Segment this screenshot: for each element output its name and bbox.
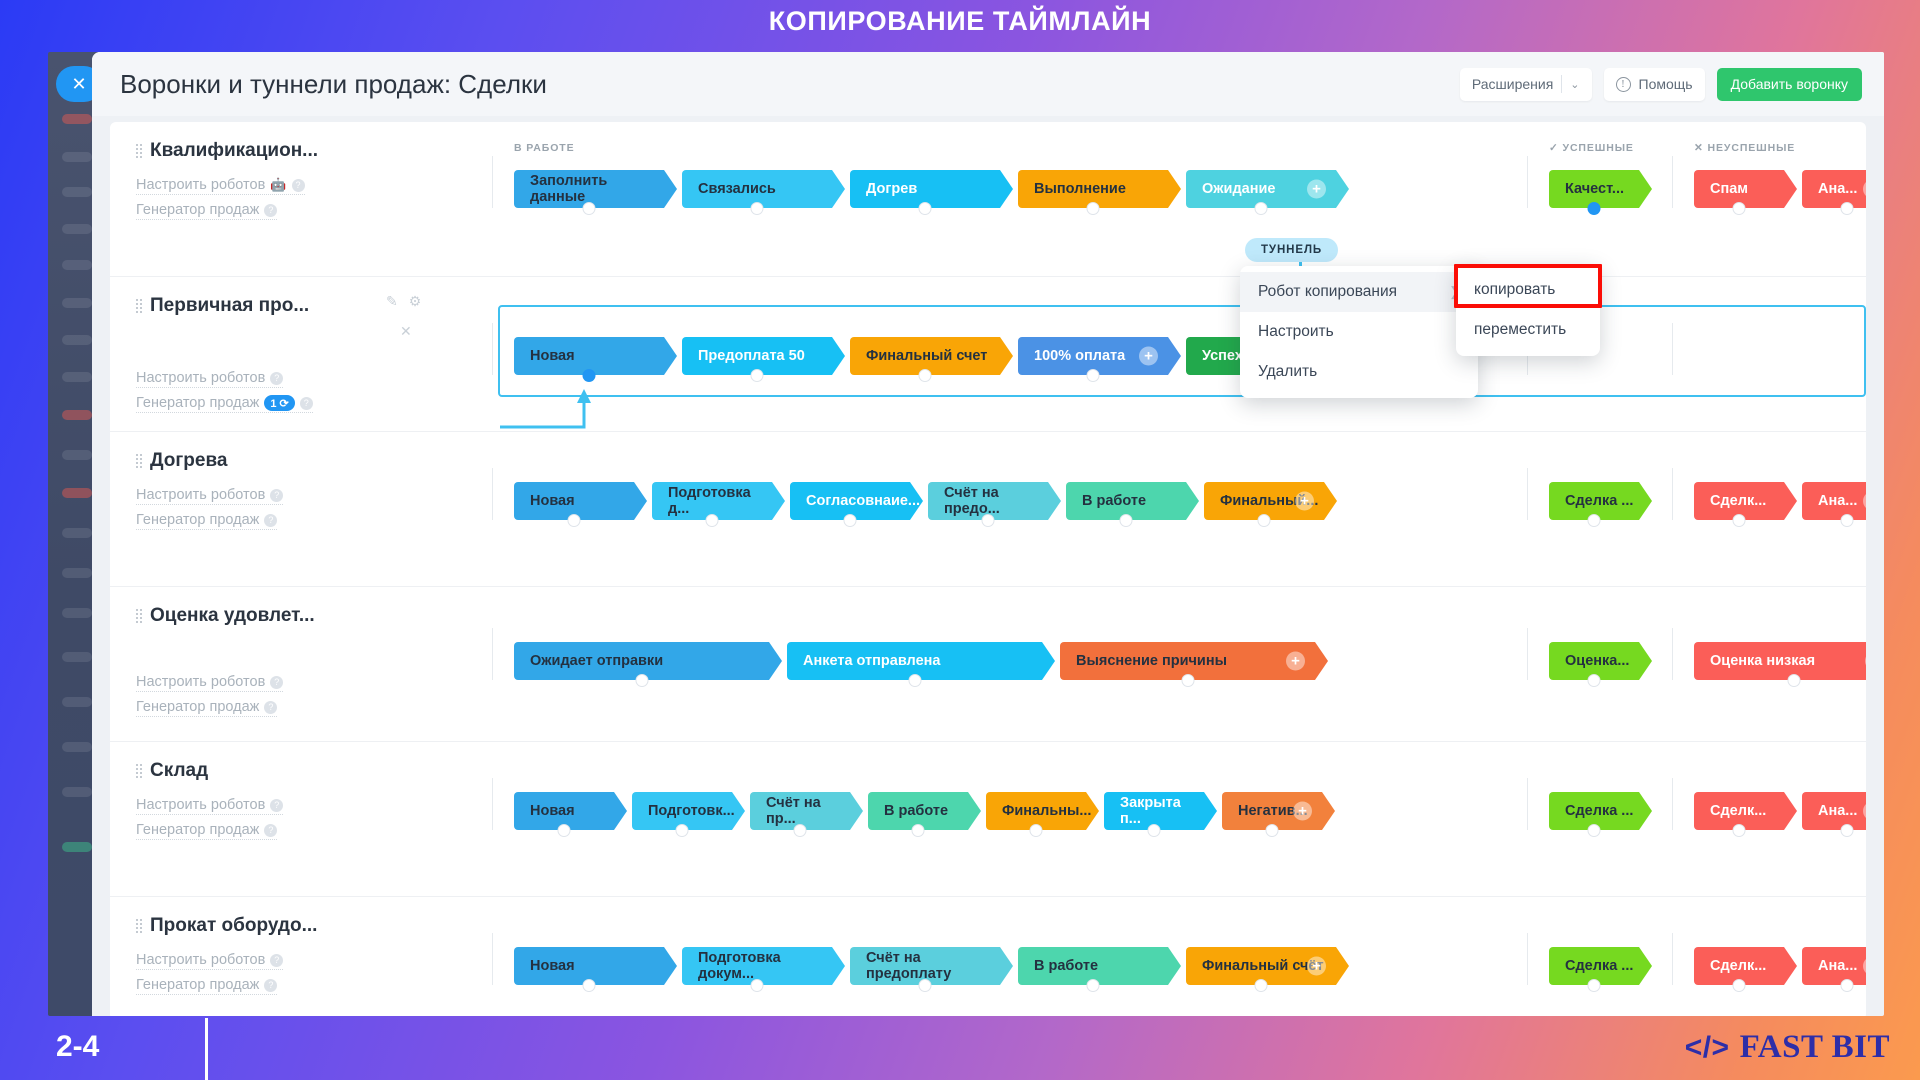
- check-icon: ✓: [1549, 142, 1559, 154]
- spacer: [136, 317, 386, 363]
- add-stage-icon[interactable]: +: [1865, 652, 1866, 671]
- stage-label: Сделка ...: [1565, 493, 1633, 509]
- stages-area: В РАБОТЕ✓ УСПЕШНЫЕ✕ НЕУСПЕШНЫЕЗаполнить …: [514, 122, 1866, 276]
- sales-generator-link[interactable]: Генератор продаж?: [136, 202, 277, 220]
- configure-robots-link[interactable]: Настроить роботов?: [136, 952, 283, 970]
- stage-chip[interactable]: Счёт на предо...: [928, 482, 1048, 520]
- stage-connector-dot[interactable]: [1588, 824, 1601, 837]
- stage-connector-dot[interactable]: [1266, 824, 1279, 837]
- question-mark-icon[interactable]: ?: [264, 204, 277, 217]
- robots-label: Настроить роботов: [136, 370, 265, 386]
- stage-label: Финальный счёт: [1202, 958, 1324, 974]
- robots-label: Настроить роботов: [136, 952, 265, 968]
- add-stage-icon[interactable]: +: [1307, 180, 1326, 199]
- stage-label: Счёт на предо...: [944, 485, 1048, 517]
- funnel-title[interactable]: Оценка удовлет...: [136, 605, 386, 627]
- crm-screenshot-window: ✕ Воронки и туннели продаж: Сделки Расши…: [48, 52, 1884, 1016]
- sidebar-item[interactable]: [62, 410, 92, 420]
- column-separator: [492, 778, 493, 830]
- stage-connector-dot[interactable]: [583, 202, 596, 215]
- stage-chip[interactable]: Новая: [514, 337, 664, 375]
- stage-chip[interactable]: Сделка ...: [1549, 482, 1639, 520]
- slide-page-number: 2-4: [56, 1030, 99, 1064]
- add-stage-icon[interactable]: +: [1307, 957, 1326, 976]
- topbar-actions: Расширения ⌄ ! Помощь Добавить воронку: [1460, 68, 1862, 101]
- menu-item-configure[interactable]: Настроить: [1240, 312, 1478, 352]
- stage-connector-dot[interactable]: [1255, 979, 1268, 992]
- sidebar-item[interactable]: [62, 742, 92, 752]
- stage-label: Закрыта п...: [1120, 795, 1204, 827]
- stage-label: Заполнить данные: [530, 173, 664, 205]
- stage-label: Финальны...: [1002, 803, 1091, 819]
- delete-x-icon[interactable]: ✕: [400, 323, 412, 340]
- stage-chip[interactable]: Подготовка докум...: [682, 947, 832, 985]
- funnel-row: Прокат оборудо...Настроить роботов?Генер…: [110, 897, 1866, 1016]
- stage-chip[interactable]: Ана...+: [1802, 947, 1866, 985]
- funnel-name-column: Первичная про...Настроить роботов?Генера…: [136, 295, 386, 413]
- stage-label: Связались: [698, 181, 776, 197]
- stage-label: Согласовнаие...: [806, 493, 920, 509]
- column-separator: [1527, 468, 1528, 520]
- generator-label: Генератор продаж: [136, 512, 259, 528]
- funnels-card: Квалификацион...Настроить роботов🤖?Генер…: [110, 122, 1866, 1016]
- submenu-item-copy[interactable]: копировать: [1456, 270, 1600, 310]
- stage-connector-dot[interactable]: [919, 979, 932, 992]
- sidebar-item[interactable]: [62, 298, 92, 308]
- question-mark-icon[interactable]: ?: [270, 489, 283, 502]
- funnel-title[interactable]: Первичная про...: [136, 295, 386, 317]
- add-funnel-button[interactable]: Добавить воронку: [1717, 68, 1862, 101]
- stage-connector-dot[interactable]: [568, 514, 581, 527]
- question-mark-icon[interactable]: ?: [270, 676, 283, 689]
- column-separator: [1527, 156, 1528, 208]
- configure-robots-link[interactable]: Настроить роботов?: [136, 370, 283, 388]
- question-mark-icon[interactable]: ?: [292, 179, 305, 192]
- stage-chip[interactable]: Подготовка д...: [652, 482, 772, 520]
- stage-connector-dot[interactable]: [583, 979, 596, 992]
- question-mark-icon[interactable]: ?: [264, 824, 277, 837]
- stage-connector-dot[interactable]: [1588, 514, 1601, 527]
- stage-chip[interactable]: Сделк...: [1694, 792, 1784, 830]
- spacer: [136, 782, 386, 790]
- stage-label: Новая: [530, 803, 575, 819]
- footer-divider: [205, 1018, 208, 1080]
- cross-icon: ✕: [1694, 142, 1704, 154]
- stage-connector-dot[interactable]: [1087, 979, 1100, 992]
- spacer: [136, 472, 386, 480]
- stage-connector-dot[interactable]: [1841, 979, 1854, 992]
- menu-item-label: Удалить: [1258, 363, 1317, 381]
- stage-chip[interactable]: Сделк...: [1694, 947, 1784, 985]
- stage-chip[interactable]: Сделк...: [1694, 482, 1784, 520]
- robot-icon: 🤖: [270, 177, 286, 193]
- configure-robots-link[interactable]: Настроить роботов🤖?: [136, 177, 305, 195]
- spacer: [136, 627, 386, 667]
- column-separator: [492, 468, 493, 520]
- stage-connector-dot[interactable]: [751, 369, 764, 382]
- funnel-title-label: Первичная про...: [150, 295, 309, 317]
- stage-label: Ана...: [1818, 803, 1857, 819]
- sales-generator-link[interactable]: Генератор продаж1 ⟳?: [136, 395, 313, 413]
- stage-connector-dot[interactable]: [908, 674, 921, 687]
- stage-chip[interactable]: Предоплата 50: [682, 337, 832, 375]
- funnel-title[interactable]: Прокат оборудо...: [136, 915, 386, 937]
- brand-logo: </> FAST BIT: [1685, 1029, 1890, 1066]
- stage-connector-dot[interactable]: [1255, 202, 1268, 215]
- sidebar-item[interactable]: [62, 114, 92, 124]
- stage-chip[interactable]: Ана...+: [1802, 170, 1866, 208]
- stage-connector-dot[interactable]: [706, 514, 719, 527]
- question-mark-icon[interactable]: ?: [264, 514, 277, 527]
- sales-generator-link[interactable]: Генератор продаж?: [136, 822, 277, 840]
- stage-chip[interactable]: Ана...+: [1802, 482, 1866, 520]
- main-panel: Воронки и туннели продаж: Сделки Расшире…: [92, 52, 1884, 1016]
- stages-area: НоваяПодготовк...Счёт на пр...В работеФи…: [514, 742, 1866, 896]
- stage-label: Оценка...: [1565, 653, 1629, 669]
- chevron-down-icon: ⌄: [1570, 78, 1579, 91]
- stage-label: Сделка ...: [1565, 803, 1633, 819]
- stage-chip[interactable]: Подготовк...: [632, 792, 732, 830]
- stage-connector-dot[interactable]: [1181, 674, 1194, 687]
- question-mark-icon[interactable]: ?: [270, 799, 283, 812]
- question-mark-icon[interactable]: ?: [270, 372, 283, 385]
- stage-connector-dot[interactable]: [1148, 824, 1161, 837]
- stage-chip[interactable]: 100% оплата+: [1018, 337, 1168, 375]
- spacer: [136, 162, 386, 170]
- question-mark-icon[interactable]: ?: [300, 397, 313, 410]
- stage-label: Ана...: [1818, 493, 1857, 509]
- stage-chip[interactable]: Ожидает отправки: [514, 642, 769, 680]
- column-separator: [1672, 778, 1673, 830]
- stage-label: Счёт на пр...: [766, 795, 850, 827]
- question-mark-icon[interactable]: ?: [264, 979, 277, 992]
- stage-label: В работе: [1082, 493, 1146, 509]
- stage-label: В работе: [884, 803, 948, 819]
- group-label-in-work: В РАБОТЕ: [514, 142, 575, 154]
- stage-chip[interactable]: Счёт на предоплату: [850, 947, 1000, 985]
- stage-chip[interactable]: В работе: [1018, 947, 1168, 985]
- edit-pencil-icon[interactable]: ✎: [386, 293, 398, 310]
- stage-connector-dot[interactable]: [1841, 824, 1854, 837]
- sidebar-item[interactable]: [62, 568, 92, 578]
- stages-area: НоваяПодготовка докум...Счёт на предопла…: [514, 897, 1866, 1016]
- stage-connector-dot[interactable]: [751, 202, 764, 215]
- app-topbar: Воронки и туннели продаж: Сделки Расшире…: [92, 52, 1884, 116]
- funnel-name-column: Прокат оборудо...Настроить роботов?Генер…: [136, 915, 386, 995]
- stage-label: Предоплата 50: [698, 348, 805, 364]
- stage-chip[interactable]: Связались: [682, 170, 832, 208]
- column-separator: [492, 628, 493, 680]
- stage-connector-dot[interactable]: [1120, 514, 1133, 527]
- stage-connector-dot[interactable]: [912, 824, 925, 837]
- stage-connector-dot[interactable]: [1087, 369, 1100, 382]
- group-label-success: ✓ УСПЕШНЫЕ: [1549, 142, 1634, 154]
- sidebar-item[interactable]: [62, 224, 92, 234]
- stage-label: Выполнение: [1034, 181, 1126, 197]
- add-stage-icon[interactable]: +: [1293, 802, 1312, 821]
- stage-label: Ана...: [1818, 181, 1857, 197]
- stage-connector-dot[interactable]: [844, 514, 857, 527]
- stages-area: Ожидает отправкиАнкета отправленаВыяснен…: [514, 587, 1866, 741]
- help-label: Помощь: [1639, 76, 1693, 92]
- stage-chip[interactable]: Финальный счёт+: [1186, 947, 1336, 985]
- funnel-title-label: Догрева: [150, 450, 227, 472]
- sidebar-item[interactable]: [62, 842, 92, 852]
- stage-connector-dot[interactable]: [676, 824, 689, 837]
- funnel-name-column: Квалификацион...Настроить роботов🤖?Генер…: [136, 140, 386, 220]
- stage-label: Выяснение причины: [1076, 653, 1227, 669]
- sales-generator-link[interactable]: Генератор продаж?: [136, 977, 277, 995]
- stage-chip[interactable]: Выполнение: [1018, 170, 1168, 208]
- configure-robots-link[interactable]: Настроить роботов?: [136, 487, 283, 505]
- stage-label: Подготовка д...: [668, 485, 772, 517]
- stage-connector-dot[interactable]: [919, 369, 932, 382]
- stage-label: Ожидание: [1202, 181, 1275, 197]
- stage-connector-dot[interactable]: [1841, 514, 1854, 527]
- stage-chip[interactable]: Заполнить данные: [514, 170, 664, 208]
- stage-chip[interactable]: Оценка низкая+: [1694, 642, 1866, 680]
- stage-chip[interactable]: Новая: [514, 482, 634, 520]
- stage-chip[interactable]: Качест...: [1549, 170, 1639, 208]
- stage-label: Качест...: [1565, 181, 1624, 197]
- stage-connector-dot[interactable]: [1258, 514, 1271, 527]
- add-stage-icon[interactable]: +: [1863, 180, 1866, 199]
- stage-connector-dot[interactable]: [982, 514, 995, 527]
- stage-chip[interactable]: Финальный счет: [850, 337, 1000, 375]
- add-stage-icon[interactable]: +: [1295, 492, 1314, 511]
- code-brackets-icon: </>: [1685, 1031, 1730, 1065]
- funnel-title-label: Склад: [150, 760, 208, 782]
- stage-connector-dot[interactable]: [1788, 674, 1801, 687]
- add-stage-icon[interactable]: +: [1863, 492, 1866, 511]
- submenu-item-move[interactable]: переместить: [1456, 310, 1600, 350]
- context-submenu[interactable]: копировать переместить: [1456, 264, 1600, 356]
- divider: [1561, 75, 1562, 93]
- configure-robots-link[interactable]: Настроить роботов?: [136, 797, 283, 815]
- stage-connector-dot[interactable]: [794, 824, 807, 837]
- stage-chip[interactable]: В работе: [1066, 482, 1186, 520]
- generator-label: Генератор продаж: [136, 699, 259, 715]
- add-stage-icon[interactable]: +: [1863, 802, 1866, 821]
- gear-icon[interactable]: ⚙: [409, 293, 422, 310]
- sidebar-item[interactable]: [62, 335, 92, 345]
- stage-label: Сделк...: [1710, 803, 1766, 819]
- extensions-dropdown[interactable]: Расширения ⌄: [1460, 68, 1592, 101]
- drag-handle-icon[interactable]: [136, 918, 142, 934]
- sidebar-item[interactable]: [62, 652, 92, 662]
- funnel-row-tools: ✎⚙✕: [386, 293, 421, 310]
- funnel-title-label: Квалификацион...: [150, 140, 318, 162]
- sidebar-item[interactable]: [62, 697, 92, 707]
- stage-chip[interactable]: Закрыта п...: [1104, 792, 1204, 830]
- column-separator: [492, 323, 493, 375]
- stage-chip[interactable]: Выяснение причины+: [1060, 642, 1315, 680]
- context-menu[interactable]: Робот копирования ❯ Настроить Удалить: [1240, 266, 1478, 398]
- stage-label: Спам: [1710, 181, 1748, 197]
- funnel-name-column: Оценка удовлет...Настроить роботов?Генер…: [136, 605, 386, 717]
- funnel-row: Первичная про...Настроить роботов?Генера…: [110, 277, 1866, 432]
- sidebar-item[interactable]: [62, 152, 92, 162]
- drag-handle-icon[interactable]: [136, 763, 142, 779]
- stage-connector-dot[interactable]: [1733, 824, 1746, 837]
- funnel-rows: Квалификацион...Настроить роботов🤖?Генер…: [110, 122, 1866, 1016]
- stage-label: Сделк...: [1710, 958, 1766, 974]
- stage-label: Успех: [1202, 348, 1243, 364]
- robots-label: Настроить роботов: [136, 177, 265, 193]
- stage-chip[interactable]: Согласовнаие...: [790, 482, 910, 520]
- funnel-name-column: СкладНастроить роботов?Генератор продаж?: [136, 760, 386, 840]
- stage-connector-dot[interactable]: [1588, 202, 1601, 215]
- stages-area: НоваяПредоплата 50Финальный счет100% опл…: [514, 277, 1866, 431]
- funnel-title-label: Прокат оборудо...: [150, 915, 317, 937]
- stage-label: Ожидает отправки: [530, 653, 663, 669]
- funnel-name-column: ДогреваНастроить роботов?Генератор прода…: [136, 450, 386, 530]
- sidebar-item[interactable]: [62, 372, 92, 382]
- stage-chip[interactable]: Сделка ...: [1549, 792, 1639, 830]
- stage-chip[interactable]: Ана...+: [1802, 792, 1866, 830]
- stage-connector-dot[interactable]: [1030, 824, 1043, 837]
- stage-chip[interactable]: Догрев: [850, 170, 1000, 208]
- stage-label: Новая: [530, 348, 575, 364]
- sales-generator-link[interactable]: Генератор продаж?: [136, 699, 277, 717]
- column-separator: [492, 156, 493, 208]
- stage-label: 100% оплата: [1034, 348, 1125, 364]
- sidebar-item[interactable]: [62, 488, 92, 498]
- stage-connector-dot[interactable]: [1841, 202, 1854, 215]
- slide-title: КОПИРОВАНИЕ ТАЙМЛАЙН: [0, 6, 1920, 37]
- add-stage-icon[interactable]: +: [1286, 652, 1305, 671]
- stage-connector-dot[interactable]: [635, 674, 648, 687]
- stage-connector-dot[interactable]: [1588, 979, 1601, 992]
- stage-label: Сделк...: [1710, 493, 1766, 509]
- drag-handle-icon[interactable]: [136, 298, 142, 314]
- column-separator: [1672, 933, 1673, 985]
- generator-label: Генератор продаж: [136, 395, 259, 411]
- stage-label: Анкета отправлена: [803, 653, 940, 669]
- stage-chip[interactable]: Финальны...: [986, 792, 1086, 830]
- stage-connector-dot[interactable]: [583, 369, 596, 382]
- stage-label: Сделка ...: [1565, 958, 1633, 974]
- stage-label: Новая: [530, 958, 575, 974]
- robots-label: Настроить роботов: [136, 487, 265, 503]
- robots-label: Настроить роботов: [136, 674, 265, 690]
- info-circle-icon: !: [1616, 77, 1631, 92]
- stage-connector-dot[interactable]: [1588, 674, 1601, 687]
- sidebar-item[interactable]: [62, 450, 92, 460]
- column-separator: [1527, 778, 1528, 830]
- stage-label: В работе: [1034, 958, 1098, 974]
- sidebar-item[interactable]: [62, 787, 92, 797]
- group-label-fail: ✕ НЕУСПЕШНЫЕ: [1694, 142, 1795, 154]
- sidebar-item[interactable]: [62, 260, 92, 270]
- help-button[interactable]: ! Помощь: [1604, 68, 1705, 101]
- add-stage-icon[interactable]: +: [1863, 957, 1866, 976]
- stage-chip[interactable]: Оценка...: [1549, 642, 1639, 680]
- stage-connector-dot[interactable]: [1733, 979, 1746, 992]
- stage-label: Финальный счет: [866, 348, 987, 364]
- stage-label: Оценка низкая: [1710, 653, 1815, 669]
- funnel-title[interactable]: Догрева: [136, 450, 386, 472]
- menu-item-label: Робот копирования: [1258, 283, 1397, 301]
- question-mark-icon[interactable]: ?: [270, 954, 283, 967]
- funnel-title[interactable]: Склад: [136, 760, 386, 782]
- column-separator: [1672, 156, 1673, 208]
- generator-count-badge[interactable]: 1 ⟳: [264, 395, 294, 411]
- stage-connector-dot[interactable]: [919, 202, 932, 215]
- sidebar-item[interactable]: [62, 528, 92, 538]
- stage-chip[interactable]: Спам: [1694, 170, 1784, 208]
- funnel-row: ДогреваНастроить роботов?Генератор прода…: [110, 432, 1866, 587]
- drag-handle-icon[interactable]: [136, 453, 142, 469]
- drag-handle-icon[interactable]: [136, 608, 142, 624]
- column-separator: [1672, 628, 1673, 680]
- brand-name: FAST BIT: [1740, 1029, 1890, 1066]
- tunnel-badge[interactable]: ТУННЕЛЬ: [1245, 238, 1338, 262]
- stage-label: Подготовка докум...: [698, 950, 832, 982]
- funnel-row: Оценка удовлет...Настроить роботов?Генер…: [110, 587, 1866, 742]
- funnel-title[interactable]: Квалификацион...: [136, 140, 386, 162]
- stage-chip[interactable]: Анкета отправлена: [787, 642, 1042, 680]
- stage-chip[interactable]: Сделка ...: [1549, 947, 1639, 985]
- funnel-row: Квалификацион...Настроить роботов🤖?Генер…: [110, 122, 1866, 277]
- generator-label: Генератор продаж: [136, 822, 259, 838]
- column-separator: [1527, 933, 1528, 985]
- stage-chip[interactable]: В работе: [868, 792, 968, 830]
- sidebar-item[interactable]: [62, 608, 92, 618]
- sales-generator-link[interactable]: Генератор продаж?: [136, 512, 277, 530]
- stage-label: Догрев: [866, 181, 917, 197]
- sidebar-item[interactable]: [62, 187, 92, 197]
- stage-connector-dot[interactable]: [1087, 202, 1100, 215]
- stage-chip[interactable]: Финальный...+: [1204, 482, 1324, 520]
- menu-item-label: Настроить: [1258, 323, 1334, 341]
- stage-connector-dot[interactable]: [1733, 202, 1746, 215]
- question-mark-icon[interactable]: ?: [264, 701, 277, 714]
- spacer: [136, 937, 386, 945]
- stage-chip[interactable]: Ожидание+: [1186, 170, 1336, 208]
- configure-robots-link[interactable]: Настроить роботов?: [136, 674, 283, 692]
- menu-item-copy-robot[interactable]: Робот копирования ❯: [1240, 272, 1478, 312]
- column-separator: [1672, 323, 1673, 375]
- robots-label: Настроить роботов: [136, 797, 265, 813]
- funnel-title-label: Оценка удовлет...: [150, 605, 315, 627]
- stage-connector-dot[interactable]: [751, 979, 764, 992]
- stage-chip[interactable]: Счёт на пр...: [750, 792, 850, 830]
- funnel-row: СкладНастроить роботов?Генератор продаж?…: [110, 742, 1866, 897]
- stages-area: НоваяПодготовка д...Согласовнаие...Счёт …: [514, 432, 1866, 586]
- stage-label: Счёт на предоплату: [866, 950, 1000, 982]
- stage-chip[interactable]: Новая: [514, 792, 614, 830]
- column-separator: [1672, 468, 1673, 520]
- menu-item-delete[interactable]: Удалить: [1240, 352, 1478, 392]
- column-separator: [492, 933, 493, 985]
- stage-label: Ана...: [1818, 958, 1857, 974]
- generator-label: Генератор продаж: [136, 977, 259, 993]
- add-stage-icon[interactable]: +: [1139, 347, 1158, 366]
- drag-handle-icon[interactable]: [136, 143, 142, 159]
- stage-chip[interactable]: Новая: [514, 947, 664, 985]
- generator-label: Генератор продаж: [136, 202, 259, 218]
- extensions-label: Расширения: [1472, 76, 1553, 92]
- stage-label: Новая: [530, 493, 575, 509]
- stage-label: Подготовк...: [648, 803, 735, 819]
- column-separator: [1527, 628, 1528, 680]
- stage-chip[interactable]: Негатив...+: [1222, 792, 1322, 830]
- stage-connector-dot[interactable]: [558, 824, 571, 837]
- page-title: Воронки и туннели продаж: Сделки: [120, 69, 547, 100]
- stage-connector-dot[interactable]: [1733, 514, 1746, 527]
